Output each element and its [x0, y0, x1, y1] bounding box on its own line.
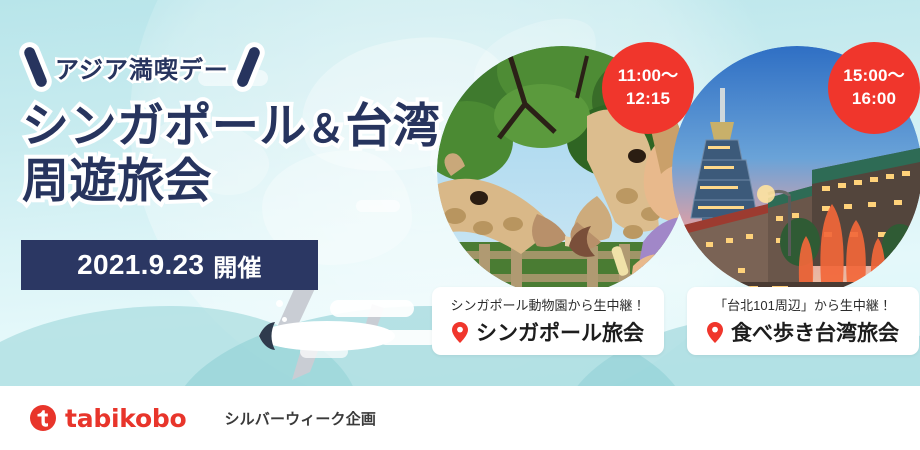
session-card-singapore[interactable]: シンガポール動物園から生中継！ シンガポール旅会 — [432, 287, 664, 355]
title-line-1-part-b: 台湾 — [345, 99, 440, 152]
event-date: 2021.9.23 — [77, 249, 204, 281]
session-title-row: 食べ歩き台湾旅会 — [707, 317, 899, 347]
session-title: シンガポール旅会 — [476, 317, 644, 347]
eyebrow-label: アジア満喫デー — [55, 50, 229, 85]
brand-logo[interactable]: tabikobo — [30, 404, 187, 433]
eyebrow-row: アジア満喫デー — [30, 46, 254, 88]
promo-banner: アジア満喫デー シンガポール＆台湾 周遊旅会 2021.9.23 開催 — [0, 0, 920, 450]
cloud-shape — [330, 300, 414, 317]
map-pin-icon — [452, 322, 468, 343]
map-pin-icon — [707, 322, 723, 343]
footer-bar: tabikobo シルバーウィーク企画 — [0, 386, 920, 450]
cloud-shape — [378, 330, 438, 345]
slash-left-icon — [23, 45, 49, 88]
cloud-dot-shape — [282, 317, 287, 322]
session-subtitle: シンガポール動物園から生中継！ — [450, 295, 645, 314]
time-end: 12:15 — [626, 88, 670, 111]
time-end: 16:00 — [852, 88, 896, 111]
cloud-dot-shape — [276, 300, 283, 307]
session-card-taiwan[interactable]: 「台北101周辺」から生中継！ 食べ歩き台湾旅会 — [687, 287, 919, 355]
time-start: 11:00〜 — [618, 65, 679, 88]
cloud-shape — [300, 345, 348, 358]
title-line-2: 周遊旅会 — [22, 154, 212, 207]
session-title: 食べ歩き台湾旅会 — [731, 317, 899, 347]
session-subtitle: 「台北101周辺」から生中継！ — [714, 295, 892, 314]
event-date-badge: 2021.9.23 開催 — [21, 240, 318, 290]
hero-section: アジア満喫デー シンガポール＆台湾 周遊旅会 2021.9.23 開催 — [0, 0, 920, 386]
session-time-badge-2: 15:00〜 16:00 — [828, 42, 920, 134]
event-date-suffix: 開催 — [213, 248, 262, 283]
time-start: 15:00〜 — [843, 65, 905, 88]
title-line-1-part-a: シンガポール — [22, 99, 307, 152]
tabikobo-logo-icon — [30, 405, 56, 431]
title-ampersand: ＆ — [307, 109, 345, 151]
brand-logo-text: tabikobo — [65, 404, 187, 433]
footer-note: シルバーウィーク企画 — [225, 408, 377, 429]
session-title-row: シンガポール旅会 — [452, 317, 644, 347]
page-title: シンガポール＆台湾 周遊旅会 — [22, 98, 440, 209]
session-time-badge-1: 11:00〜 12:15 — [602, 42, 694, 134]
